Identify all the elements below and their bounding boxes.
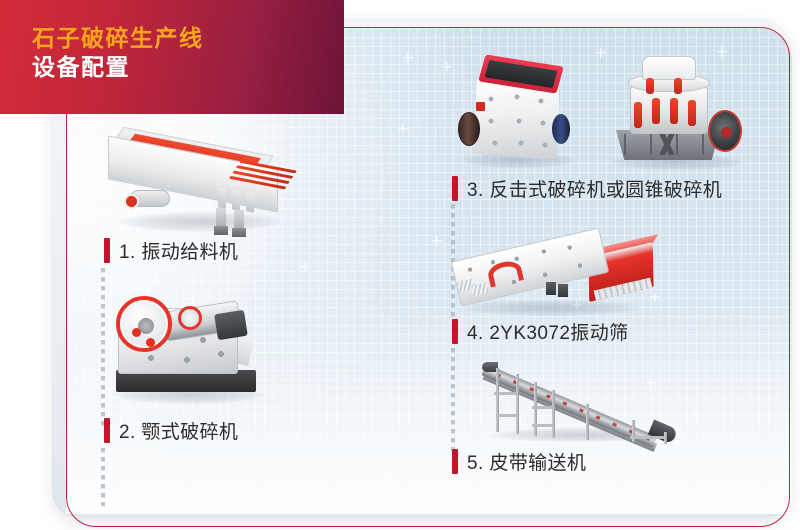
item-label-2: 2. 颚式破碎机 — [104, 417, 238, 444]
poster-stage: 1. 振动给料机 2. 颚式破碎机 3. 反击式破碎机或圆锥破碎机 4. 2YK… — [0, 0, 800, 530]
item-label-text: 3. 反击式破碎机或圆锥破碎机 — [467, 175, 722, 202]
item-label-text: 4. 2YK3072振动筛 — [467, 318, 629, 345]
equipment-image-cone-crusher — [612, 48, 762, 170]
label-accent-bar — [104, 238, 110, 263]
title-banner: 石子破碎生产线 设备配置 — [0, 0, 344, 114]
item-label-5: 5. 皮带输送机 — [452, 448, 586, 475]
equipment-image-belt-conveyor — [482, 362, 678, 448]
connector-dots — [101, 448, 105, 506]
item-label-1: 1. 振动给料机 — [104, 237, 238, 264]
equipment-image-vibrating-screen — [452, 228, 662, 320]
banner-title-line1: 石子破碎生产线 — [32, 24, 344, 53]
equipment-image-jaw-crusher — [104, 282, 284, 402]
label-accent-bar — [104, 418, 110, 443]
equipment-image-vibrating-feeder — [100, 128, 296, 233]
item-label-3: 3. 反击式破碎机或圆锥破碎机 — [452, 175, 722, 202]
banner-title-line2: 设备配置 — [32, 53, 344, 82]
label-accent-bar — [452, 449, 458, 474]
equipment-image-impact-crusher — [452, 48, 582, 168]
item-label-text: 2. 颚式破碎机 — [119, 417, 238, 444]
label-accent-bar — [452, 319, 458, 344]
item-label-4: 4. 2YK3072振动筛 — [452, 318, 629, 345]
label-accent-bar — [452, 176, 458, 201]
connector-dots — [451, 348, 455, 454]
item-label-text: 5. 皮带输送机 — [467, 448, 586, 475]
item-label-text: 1. 振动给料机 — [119, 237, 238, 264]
